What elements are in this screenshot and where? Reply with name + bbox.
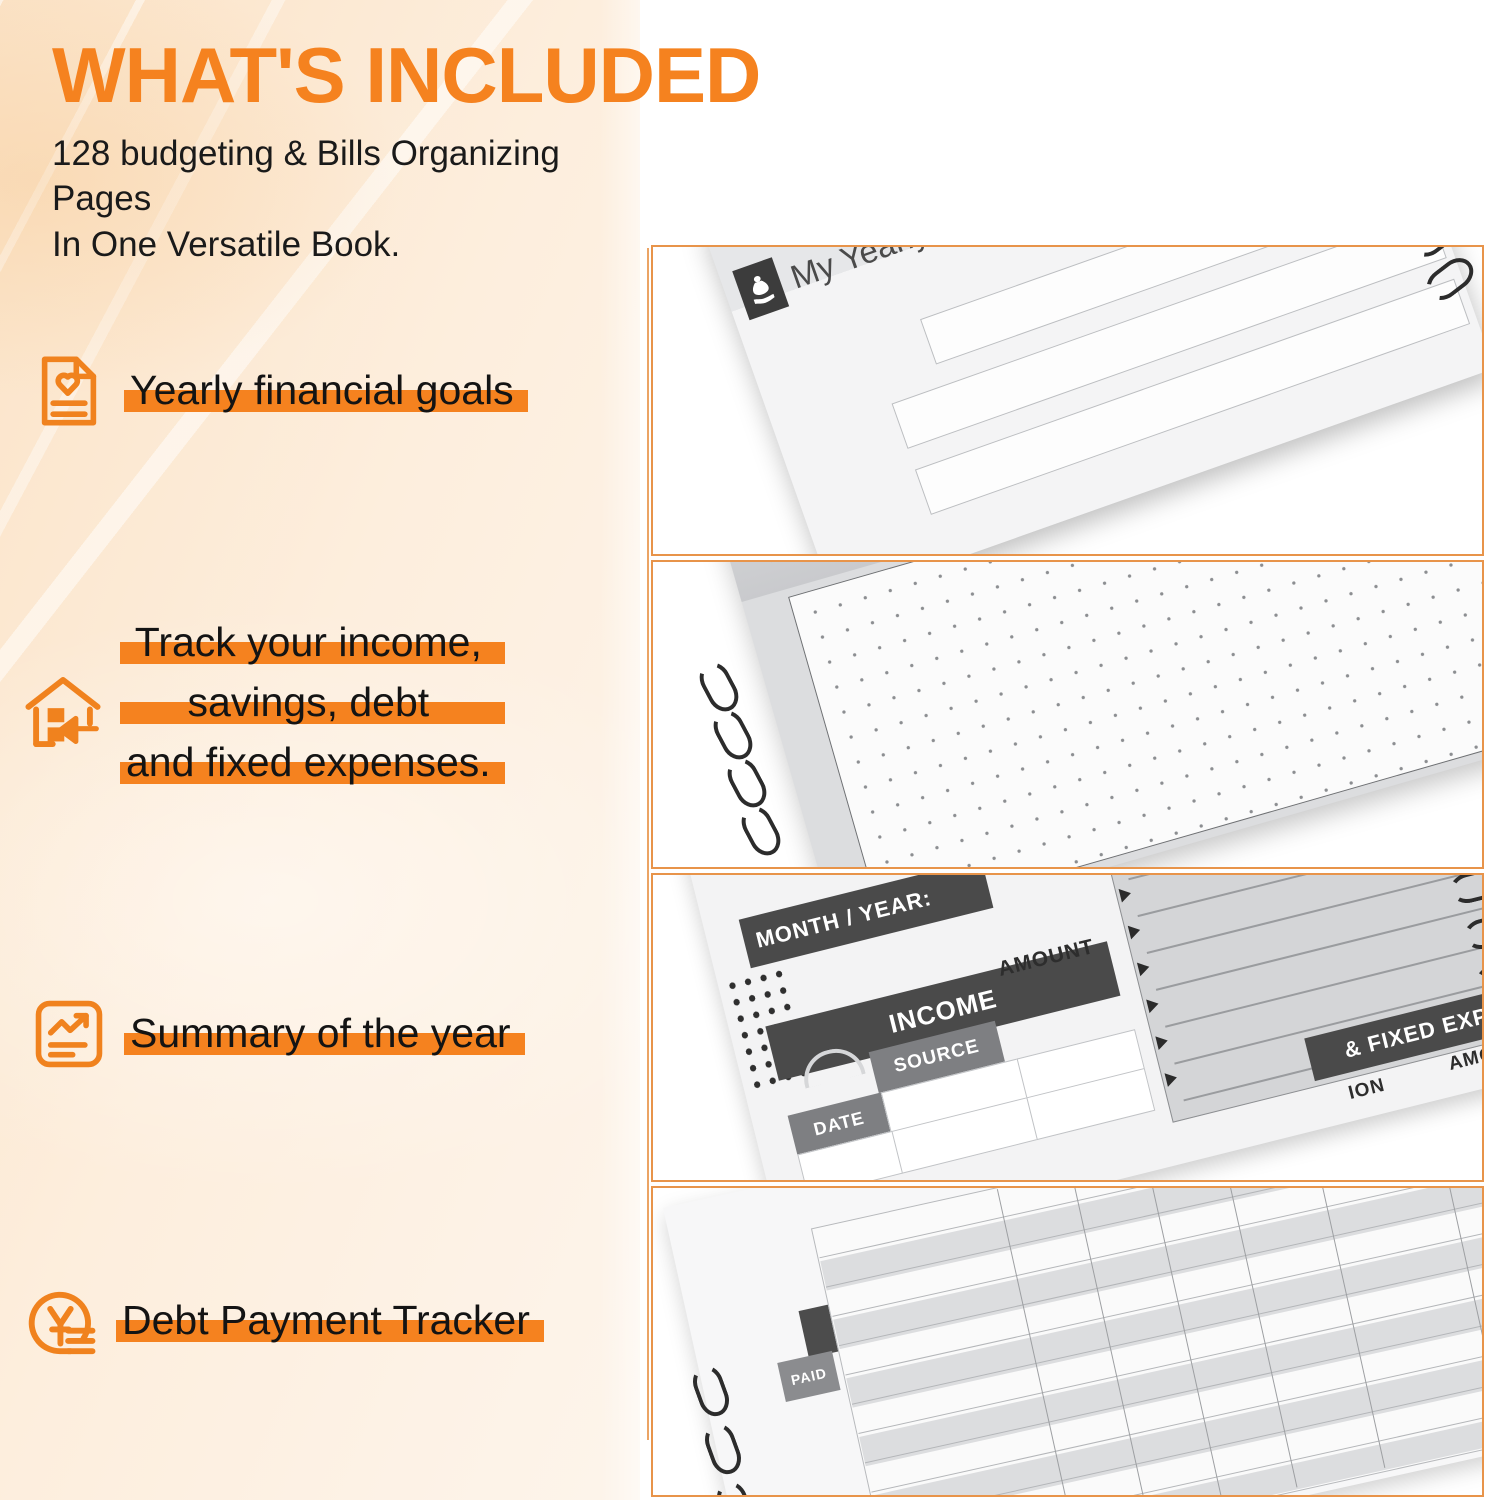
spiral-coil [1405, 245, 1465, 255]
notebook-photo: My Mind Map [653, 562, 1482, 867]
subtitle-line-2: In One Versatile Book. [52, 222, 632, 268]
product-photo-panel-bills-expenses: OTHER BILLS & EXPE NOTES UNPAID BALANCE … [651, 1186, 1484, 1497]
house-arrow-in-icon [22, 671, 100, 749]
dot-grid-area [788, 560, 1484, 869]
feature-text-yearly-goals: Yearly financial goals [130, 368, 514, 414]
feature-item-yearly-goals: Yearly financial goals [30, 352, 514, 430]
feature-item-track-income: Track your income, savings, debt and fix… [22, 620, 491, 800]
notebook-photo: OTHER BILLS & EXPE NOTES UNPAID BALANCE … [653, 1188, 1482, 1495]
feature-line: Summary of the year [130, 1011, 511, 1057]
chart-trending-up-icon [30, 995, 108, 1073]
product-photo-panel-monthly-budget: MONTH / YEAR: JAN FEB MAR APR MAY JUN JU… [651, 873, 1484, 1182]
page-title: WHAT'S INCLUDED [52, 38, 632, 113]
feature-line: savings, debt [126, 680, 491, 726]
feature-text-summary-year: Summary of the year [130, 1011, 511, 1057]
notebook-page: MONTH / YEAR: JAN FEB MAR APR MAY JUN JU… [683, 873, 1484, 1182]
notebook-photo: MONTH / YEAR: JAN FEB MAR APR MAY JUN JU… [653, 875, 1482, 1180]
product-photo-panel-yearly-goals: My Yearly Financial Goals [651, 245, 1484, 556]
month-year-header: MONTH / YEAR: [739, 873, 994, 968]
subtitle-line-1: 128 budgeting & Bills Organizing Pages [52, 131, 632, 222]
feature-line: Yearly financial goals [130, 368, 514, 414]
feature-line: Debt Payment Tracker [122, 1298, 530, 1344]
feature-text-debt-tracker: Debt Payment Tracker [122, 1298, 530, 1344]
header-subtitle: 128 budgeting & Bills Organizing Pages I… [52, 131, 632, 268]
notebook-page: My Mind Map [713, 560, 1484, 869]
document-heart-icon [30, 352, 108, 430]
currency-list-icon [22, 1282, 100, 1360]
header-block: WHAT'S INCLUDED 128 budgeting & Bills Or… [52, 38, 632, 267]
feature-item-debt-tracker: Debt Payment Tracker [22, 1282, 530, 1360]
product-photo-panel-mind-map: My Mind Map [651, 560, 1484, 869]
feature-line: and fixed expenses. [126, 740, 491, 786]
col-paid: PAID [777, 1351, 840, 1402]
vertical-divider [647, 248, 649, 1440]
feature-line: Track your income, [126, 620, 491, 666]
infographic-canvas: WHAT'S INCLUDED 128 budgeting & Bills Or… [0, 0, 1500, 1500]
notebook-page: My Yearly Financial Goals [701, 245, 1484, 556]
feature-text-track-income: Track your income, savings, debt and fix… [126, 620, 491, 800]
notebook-photo: My Yearly Financial Goals [653, 247, 1482, 554]
notebook-page: OTHER BILLS & EXPE NOTES UNPAID BALANCE … [663, 1186, 1484, 1497]
expenses-col-description: ION [1346, 1075, 1387, 1105]
feature-item-summary-year: Summary of the year [30, 995, 511, 1073]
